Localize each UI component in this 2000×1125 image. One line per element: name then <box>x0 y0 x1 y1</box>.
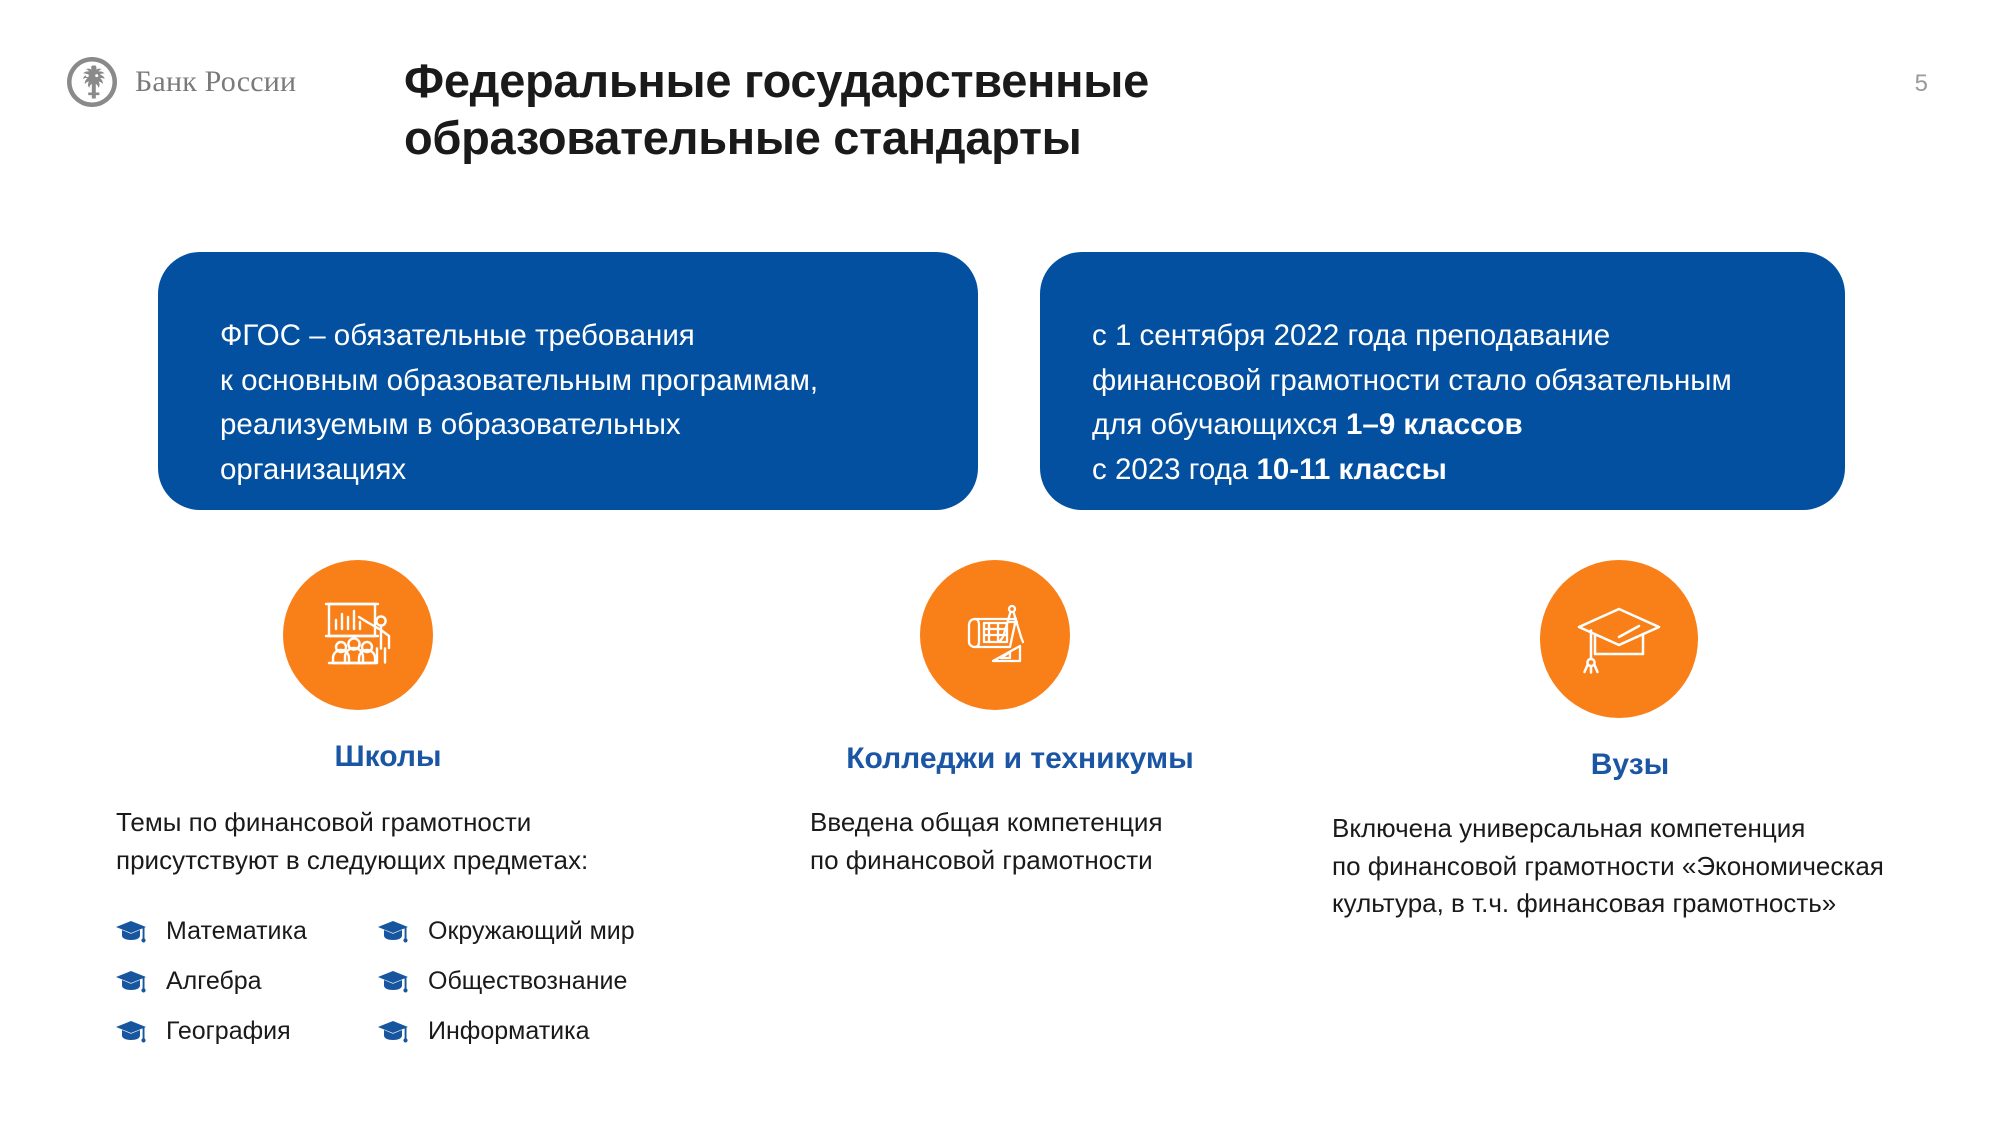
page-number: 5 <box>1915 70 1928 98</box>
column-heading-universities: Вузы <box>1320 748 1940 782</box>
column-body-universities: Включена универсальная компетенция по фи… <box>1320 810 1940 923</box>
info-card-text: с 1 сентября 2022 года преподавание фина… <box>1040 269 1732 493</box>
page-title: Федеральные государственные образователь… <box>404 52 1404 167</box>
column-body-colleges: Введена общая компетенция по финансовой … <box>760 804 1280 879</box>
column-body-schools: Темы по финансовой грамотности присутств… <box>78 804 698 879</box>
card-text-middle: с 2023 года <box>1092 453 1256 486</box>
subject-label: География <box>166 1017 291 1046</box>
list-item: Окружающий мир <box>378 917 698 946</box>
info-card-fgos-definition: ФГОС – обязательные требования к основны… <box>158 252 978 510</box>
graduation-cap-bullet-icon <box>378 920 410 943</box>
subject-label: Обществознание <box>428 967 627 996</box>
list-item: Алгебра <box>116 967 378 996</box>
schools-icon-badge <box>283 560 433 710</box>
list-item: Математика <box>116 917 378 946</box>
column-colleges: Колледжи и техникумы Введена общая компе… <box>760 560 1280 879</box>
subject-label: Алгебра <box>166 967 262 996</box>
blueprint-compass-icon <box>953 593 1037 677</box>
graduation-cap-bullet-icon <box>116 1020 148 1043</box>
slide-root: Банк России Федеральные государственные … <box>0 0 2000 1125</box>
card-text-before: ФГОС – обязательные требования к основны… <box>220 319 818 486</box>
column-heading-colleges: Колледжи и техникумы <box>760 742 1280 776</box>
logo-label: Банк России <box>135 65 296 99</box>
subject-list: Математика Окружающий мир Алгебр <box>116 917 698 1046</box>
graduation-cap-bullet-icon <box>378 970 410 993</box>
bank-of-russia-logo: Банк России <box>66 56 296 108</box>
column-heading-schools: Школы <box>78 740 698 774</box>
list-item: Обществознание <box>378 967 698 996</box>
column-universities: Вузы Включена универсальная компетенция … <box>1320 560 1940 923</box>
card-text-bold-2: 10-11 классы <box>1256 453 1446 486</box>
subject-label: Окружающий мир <box>428 917 635 946</box>
universities-icon-badge <box>1540 560 1698 718</box>
info-card-text: ФГОС – обязательные требования к основны… <box>158 269 818 493</box>
info-card-mandatory-since-2022: с 1 сентября 2022 года преподавание фина… <box>1040 252 1845 510</box>
column-schools: Школы Темы по финансовой грамотности при… <box>78 560 698 1046</box>
graduation-cap-bullet-icon <box>116 920 148 943</box>
subject-label: Математика <box>166 917 307 946</box>
list-item: Информатика <box>378 1017 698 1046</box>
bank-of-russia-eagle-emblem <box>66 56 118 108</box>
list-item: География <box>116 1017 378 1046</box>
graduation-cap-icon <box>1573 593 1665 685</box>
graduation-cap-bullet-icon <box>116 970 148 993</box>
colleges-icon-badge <box>920 560 1070 710</box>
classroom-presentation-icon <box>315 592 401 678</box>
card-text-bold-1: 1–9 классов <box>1346 408 1523 441</box>
subject-label: Информатика <box>428 1017 590 1046</box>
graduation-cap-bullet-icon <box>378 1020 410 1043</box>
